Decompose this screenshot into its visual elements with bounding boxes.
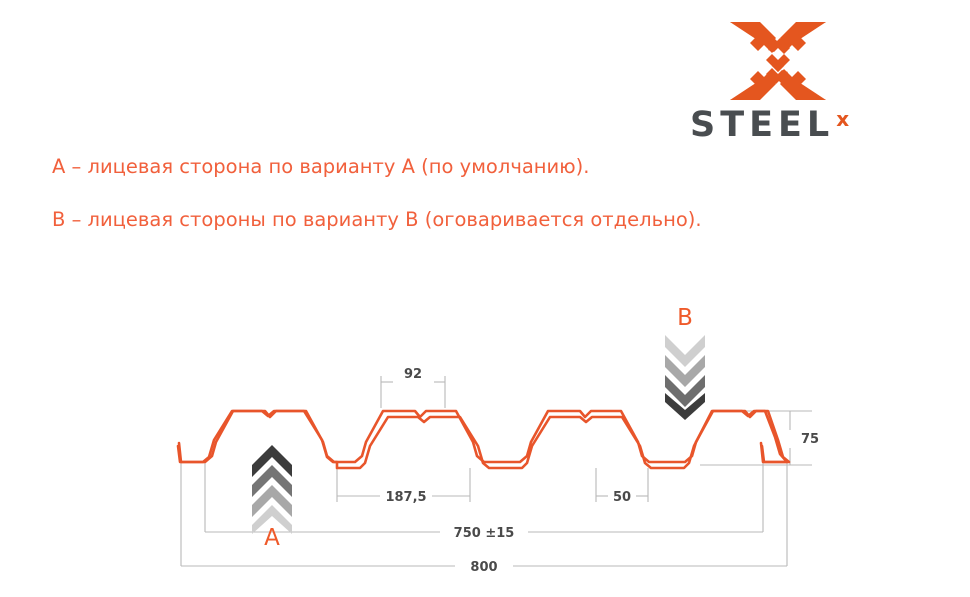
page-root: STEEL x А – лицевая сторона по варианту … [0, 0, 970, 597]
marker-a: А [252, 445, 292, 551]
marker-b-label: В [677, 305, 693, 331]
marker-a-label: А [264, 525, 280, 551]
chevron-up-icon [252, 445, 292, 534]
dimension-label-75: 75 [801, 432, 819, 447]
dimension-label-750: 750 ±15 [454, 526, 515, 541]
dimension-label-50: 50 [613, 490, 631, 505]
logo-wordmark: STEEL x [690, 108, 920, 146]
logo-steel-text: STEEL [690, 108, 834, 143]
dimension-label-800: 800 [470, 560, 497, 575]
chevron-down-icon [665, 335, 705, 420]
profile-technical-drawing: А В 92 187,5 50 75 750 ±15 800 [0, 280, 970, 597]
dimension-label-92: 92 [404, 367, 422, 382]
logo-superscript-x: x [836, 109, 849, 129]
brand-logo: STEEL x [690, 20, 920, 145]
marker-b: В [665, 305, 705, 420]
dimension-label-187-5: 187,5 [385, 490, 426, 505]
caption-block: А – лицевая сторона по варианту А (по ум… [52, 155, 772, 232]
caption-variant-a: А – лицевая сторона по варианту А (по ум… [52, 155, 772, 178]
caption-variant-b: В – лицевая стороны по варианту В (огова… [52, 208, 772, 231]
steelx-x-mark-icon [728, 20, 828, 102]
